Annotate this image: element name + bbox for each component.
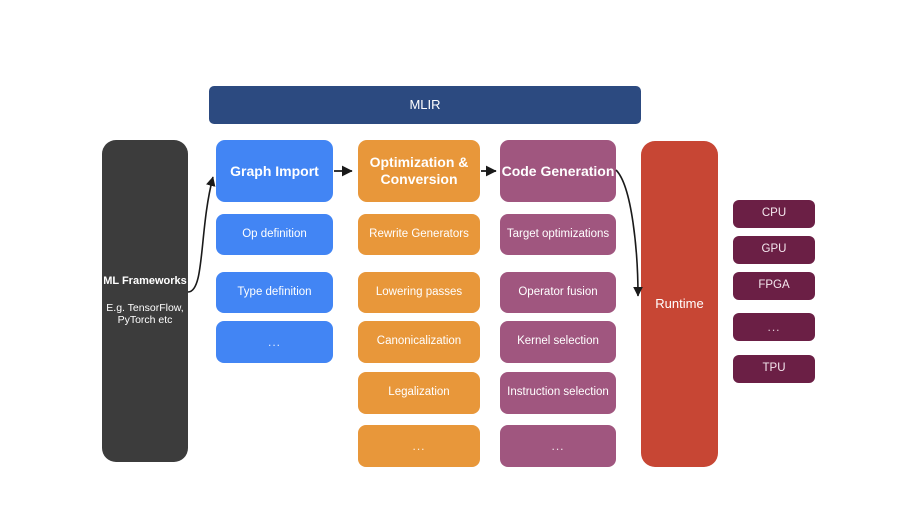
stage-item-label: Op definition bbox=[242, 228, 307, 242]
stage-item-label: Type definition bbox=[237, 286, 311, 300]
stage-item-label: Rewrite Generators bbox=[369, 228, 469, 242]
stage-header-label: Optimization & Conversion bbox=[358, 154, 480, 187]
stage-item-label: Lowering passes bbox=[376, 286, 462, 300]
hardware-target-label: ... bbox=[767, 320, 780, 334]
hardware-target-gpu: GPU bbox=[733, 236, 815, 264]
mlir-banner-label: MLIR bbox=[409, 97, 440, 112]
stage-item-label: Instruction selection bbox=[507, 386, 609, 400]
hardware-target-tpu: TPU bbox=[733, 355, 815, 383]
stage-item-label: ... bbox=[268, 335, 281, 349]
stage-item-label: Kernel selection bbox=[517, 335, 599, 349]
stage-item-type-definition: Type definition bbox=[216, 272, 333, 313]
arrow-frameworks-to-graph-import bbox=[188, 177, 213, 292]
stage-item-legalization: Legalization bbox=[358, 372, 480, 414]
stage-item-rewrite-generators: Rewrite Generators bbox=[358, 214, 480, 255]
hardware-target-label: FPGA bbox=[758, 279, 789, 293]
stage-item-more-purple: ... bbox=[500, 425, 616, 467]
diagram-canvas: MLIR ML Frameworks E.g. TensorFlow, PyTo… bbox=[0, 0, 900, 505]
stage-header-graph-import: Graph Import bbox=[216, 140, 333, 202]
mlir-banner: MLIR bbox=[209, 86, 641, 124]
stage-item-label: Legalization bbox=[388, 386, 449, 400]
ml-frameworks-pillar: ML Frameworks E.g. TensorFlow, PyTorch e… bbox=[102, 140, 188, 462]
stage-item-label: Canonicalization bbox=[377, 335, 461, 349]
stage-item-more-orange: ... bbox=[358, 425, 480, 467]
hardware-target-label: CPU bbox=[762, 207, 786, 221]
hardware-target-more: ... bbox=[733, 313, 815, 341]
runtime-label: Runtime bbox=[655, 296, 703, 311]
stage-item-more-blue: ... bbox=[216, 321, 333, 363]
stage-item-label: Target optimizations bbox=[507, 228, 609, 242]
stage-item-operator-fusion: Operator fusion bbox=[500, 272, 616, 313]
stage-item-instruction-selection: Instruction selection bbox=[500, 372, 616, 414]
stage-item-target-optimizations: Target optimizations bbox=[500, 214, 616, 255]
stage-item-label: ... bbox=[551, 439, 564, 453]
stage-header-label: Code Generation bbox=[502, 163, 615, 180]
stage-item-label: Operator fusion bbox=[518, 286, 597, 300]
arrow-code-generation-to-runtime bbox=[616, 170, 638, 296]
ml-frameworks-subtitle: E.g. TensorFlow, PyTorch etc bbox=[102, 302, 188, 327]
stage-item-label: ... bbox=[412, 439, 425, 453]
runtime-pillar: Runtime bbox=[641, 141, 718, 467]
stage-item-lowering-passes: Lowering passes bbox=[358, 272, 480, 313]
stage-item-kernel-selection: Kernel selection bbox=[500, 321, 616, 363]
hardware-target-cpu: CPU bbox=[733, 200, 815, 228]
stage-header-code-generation: Code Generation bbox=[500, 140, 616, 202]
hardware-target-label: TPU bbox=[763, 362, 786, 376]
stage-item-canonicalization: Canonicalization bbox=[358, 321, 480, 363]
hardware-target-label: GPU bbox=[762, 243, 787, 257]
stage-item-op-definition: Op definition bbox=[216, 214, 333, 255]
hardware-target-fpga: FPGA bbox=[733, 272, 815, 300]
stage-header-optimization-conversion: Optimization & Conversion bbox=[358, 140, 480, 202]
ml-frameworks-title: ML Frameworks bbox=[103, 275, 187, 288]
stage-header-label: Graph Import bbox=[230, 163, 319, 180]
